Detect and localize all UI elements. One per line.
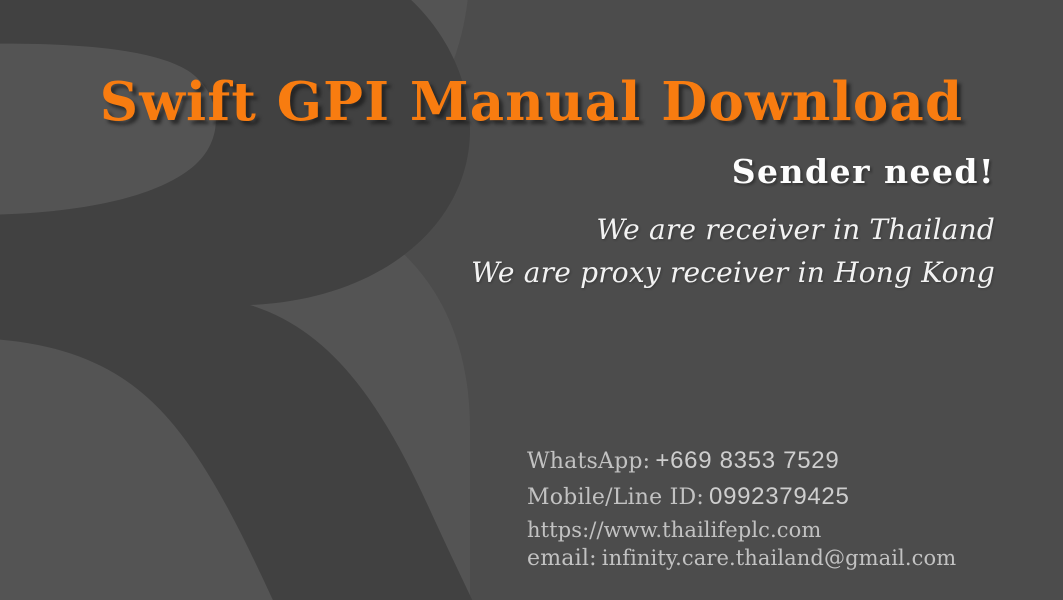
contact-row-mobile-line: Mobile/Line ID: 0992379425 bbox=[527, 485, 956, 509]
email-label: email: bbox=[527, 546, 597, 571]
contact-row-email: email: infinity.care.thailand@gmail.com bbox=[527, 548, 956, 570]
statement-line-1: We are receiver in Thailand bbox=[471, 209, 995, 252]
contact-row-whatsapp: WhatsApp: +669 8353 7529 bbox=[527, 449, 956, 473]
whatsapp-label: WhatsApp: bbox=[527, 449, 650, 474]
slide-canvas: Swift GPI Manual Download Sender need! W… bbox=[0, 0, 1063, 600]
page-title: Swift GPI Manual Download bbox=[0, 76, 1063, 129]
contact-row-website[interactable]: https://www.thailifeplc.com bbox=[527, 520, 956, 541]
statement-line-2: We are proxy receiver in Hong Kong bbox=[471, 252, 995, 295]
statement-block: We are receiver in Thailand We are proxy… bbox=[471, 209, 995, 294]
whatsapp-number[interactable]: +669 8353 7529 bbox=[655, 447, 839, 474]
website-url[interactable]: https://www.thailifeplc.com bbox=[527, 518, 821, 542]
mobile-line-id[interactable]: 0992379425 bbox=[709, 483, 849, 510]
subtitle: Sender need! bbox=[732, 155, 995, 188]
email-address[interactable]: infinity.care.thailand@gmail.com bbox=[602, 546, 957, 570]
contact-block: WhatsApp: +669 8353 7529 Mobile/Line ID:… bbox=[527, 449, 956, 570]
mobile-line-label: Mobile/Line ID: bbox=[527, 485, 704, 510]
